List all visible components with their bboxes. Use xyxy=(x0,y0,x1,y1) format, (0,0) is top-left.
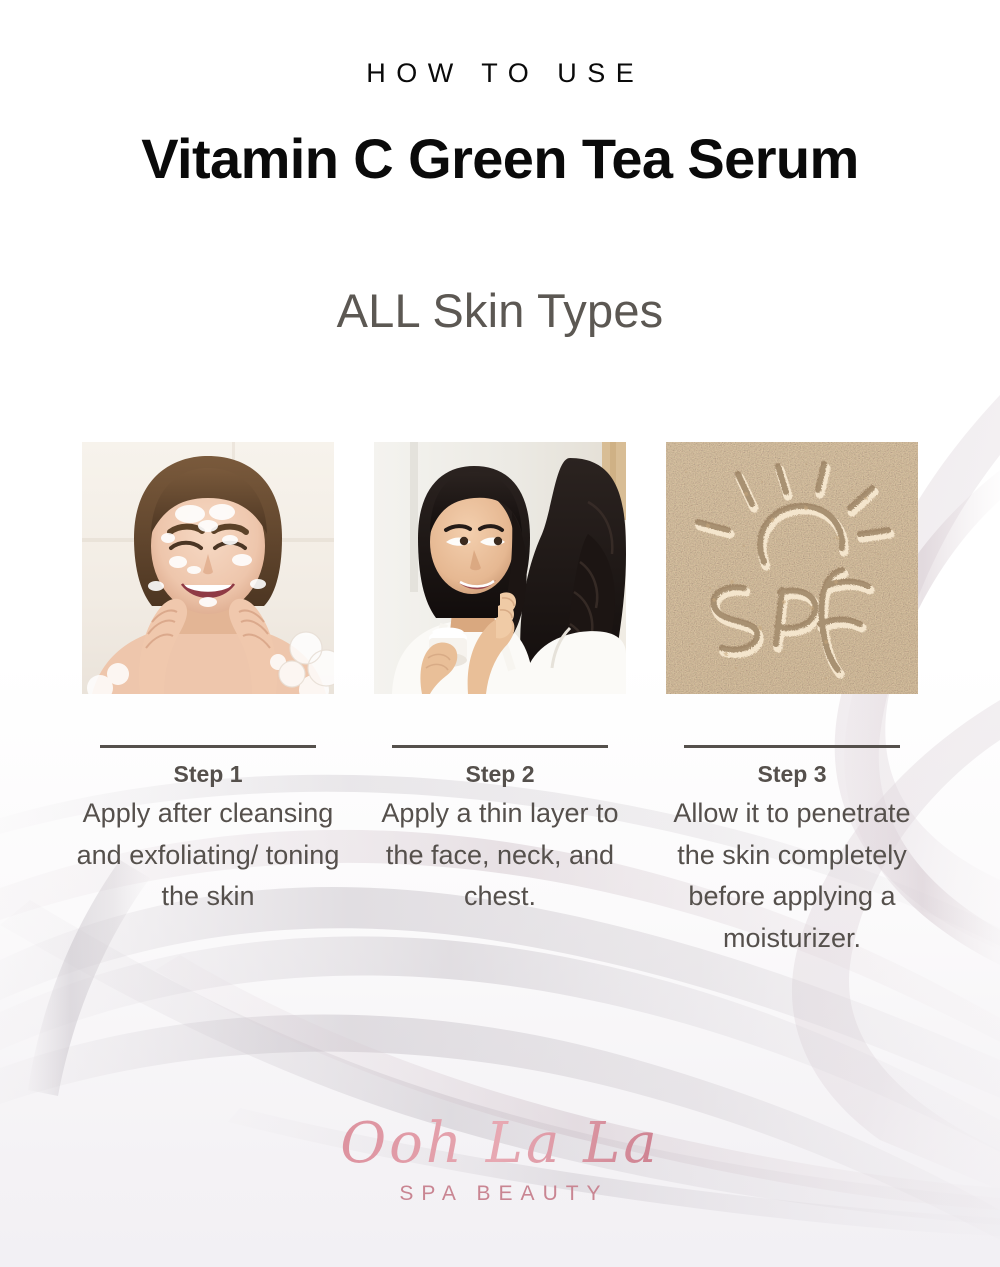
step-column-2: Step 2 Apply a thin layer to the face, n… xyxy=(374,442,626,918)
step-description: Apply after cleansing and exfoliating/ t… xyxy=(73,793,343,918)
step-label: Step 2 xyxy=(465,761,534,788)
woman-applying-cream-in-mirror-photo xyxy=(374,442,626,694)
step-divider xyxy=(684,745,900,748)
brand-tagline: SPA BEAUTY xyxy=(0,1182,1000,1206)
brand-logo: Ooh La La SPA BEAUTY xyxy=(0,1115,1000,1206)
brand-name-script: Ooh La La xyxy=(0,1115,1000,1174)
eyebrow-text: HOW TO USE xyxy=(0,58,1000,89)
steps-row: Step 1 Apply after cleansing and exfolia… xyxy=(0,442,1000,959)
step-divider xyxy=(392,745,608,748)
step-label: Step 3 xyxy=(757,761,826,788)
step-description: Allow it to penetrate the skin completel… xyxy=(653,793,931,959)
step-column-3: Step 3 Allow it to penetrate the skin co… xyxy=(666,442,918,959)
page-title: Vitamin C Green Tea Serum xyxy=(0,126,1000,191)
step-description: Apply a thin layer to the face, neck, an… xyxy=(360,793,640,918)
skin-type-subtitle: ALL Skin Types xyxy=(0,283,1000,338)
spf-written-in-sand-photo xyxy=(666,442,918,694)
step-column-1: Step 1 Apply after cleansing and exfolia… xyxy=(82,442,334,918)
poster-canvas: HOW TO USE Vitamin C Green Tea Serum ALL… xyxy=(0,0,1000,1267)
step-label: Step 1 xyxy=(173,761,242,788)
step-divider xyxy=(100,745,316,748)
woman-washing-face-with-foam-photo xyxy=(82,442,334,694)
